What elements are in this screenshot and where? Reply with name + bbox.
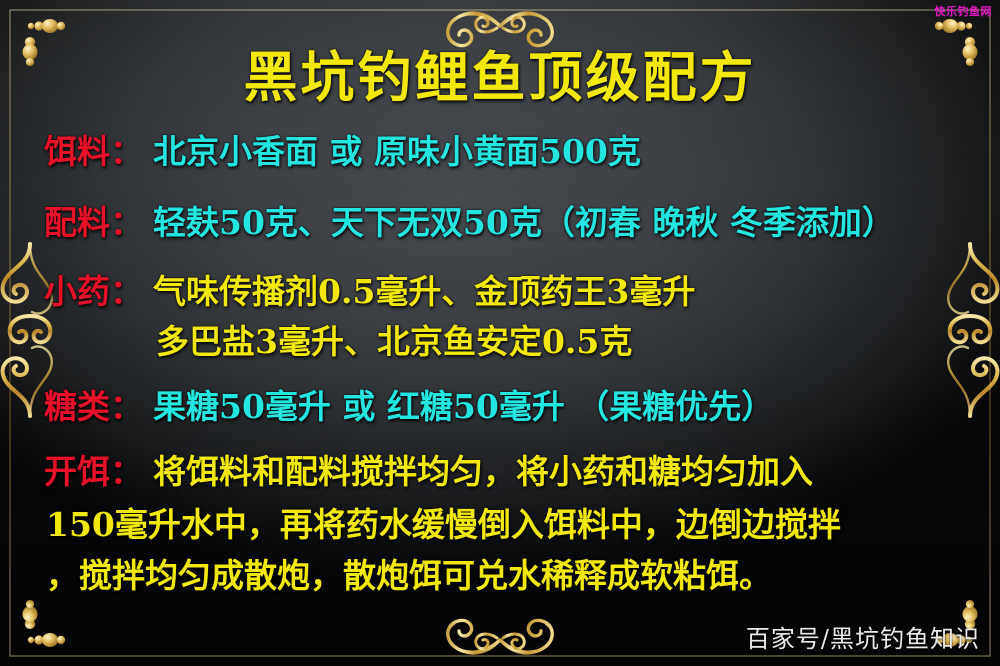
section-text-additives-2: 多巴盐3毫升、北京鱼安定0.5克 [156,325,632,358]
site-watermark: 快乐钓鱼网 [935,3,993,19]
section-sugar: 糖类：果糖50毫升 或 红糖50毫升 （果糖优先） [44,390,774,423]
section-text-mixing-1: 将饵料和配料搅拌均匀，将小药和糖均匀加入 [153,452,813,491]
section-bait: 饵料：北京小香面 或 原味小黄面500克 [44,135,641,168]
section-text-ingredients-1: 轻麸50克、天下无双50克（初春 晚秋 冬季添加） [153,203,895,242]
author-credit: 百家号/黑坑钓鱼知识 [746,619,980,654]
recipe-poster: 黑坑钓鲤鱼顶级配方 饵料：北京小香面 或 原味小黄面500克 配料：轻麸50克、… [0,0,1000,666]
section-mixing: 开饵：将饵料和配料搅拌均匀，将小药和糖均匀加入 [44,455,813,488]
section-text-bait-1: 北京小香面 或 原味小黄面500克 [153,132,641,171]
section-text-mixing-3: ，搅拌均匀成散炮，散炮饵可兑水稀释成软粘饵。 [46,559,772,592]
section-label-additives: 小药： [44,272,143,311]
section-label-ingredients: 配料： [44,203,143,242]
poster-content: 黑坑钓鲤鱼顶级配方 饵料：北京小香面 或 原味小黄面500克 配料：轻麸50克、… [0,0,1000,666]
page-title: 黑坑钓鲤鱼顶级配方 [0,50,1000,104]
section-additives: 小药：气味传播剂0.5毫升、金顶药王3毫升 [44,275,695,308]
section-text-additives-1: 气味传播剂0.5毫升、金顶药王3毫升 [153,272,695,311]
section-text-mixing-2: 150毫升水中，再将药水缓慢倒入饵料中，边倒边搅拌 [46,508,841,541]
section-label-mixing: 开饵： [44,452,143,491]
section-ingredients: 配料：轻麸50克、天下无双50克（初春 晚秋 冬季添加） [44,206,895,239]
section-label-sugar: 糖类： [44,387,143,426]
section-text-sugar-1: 果糖50毫升 或 红糖50毫升 （果糖优先） [153,387,774,426]
section-label-bait: 饵料： [44,132,143,171]
